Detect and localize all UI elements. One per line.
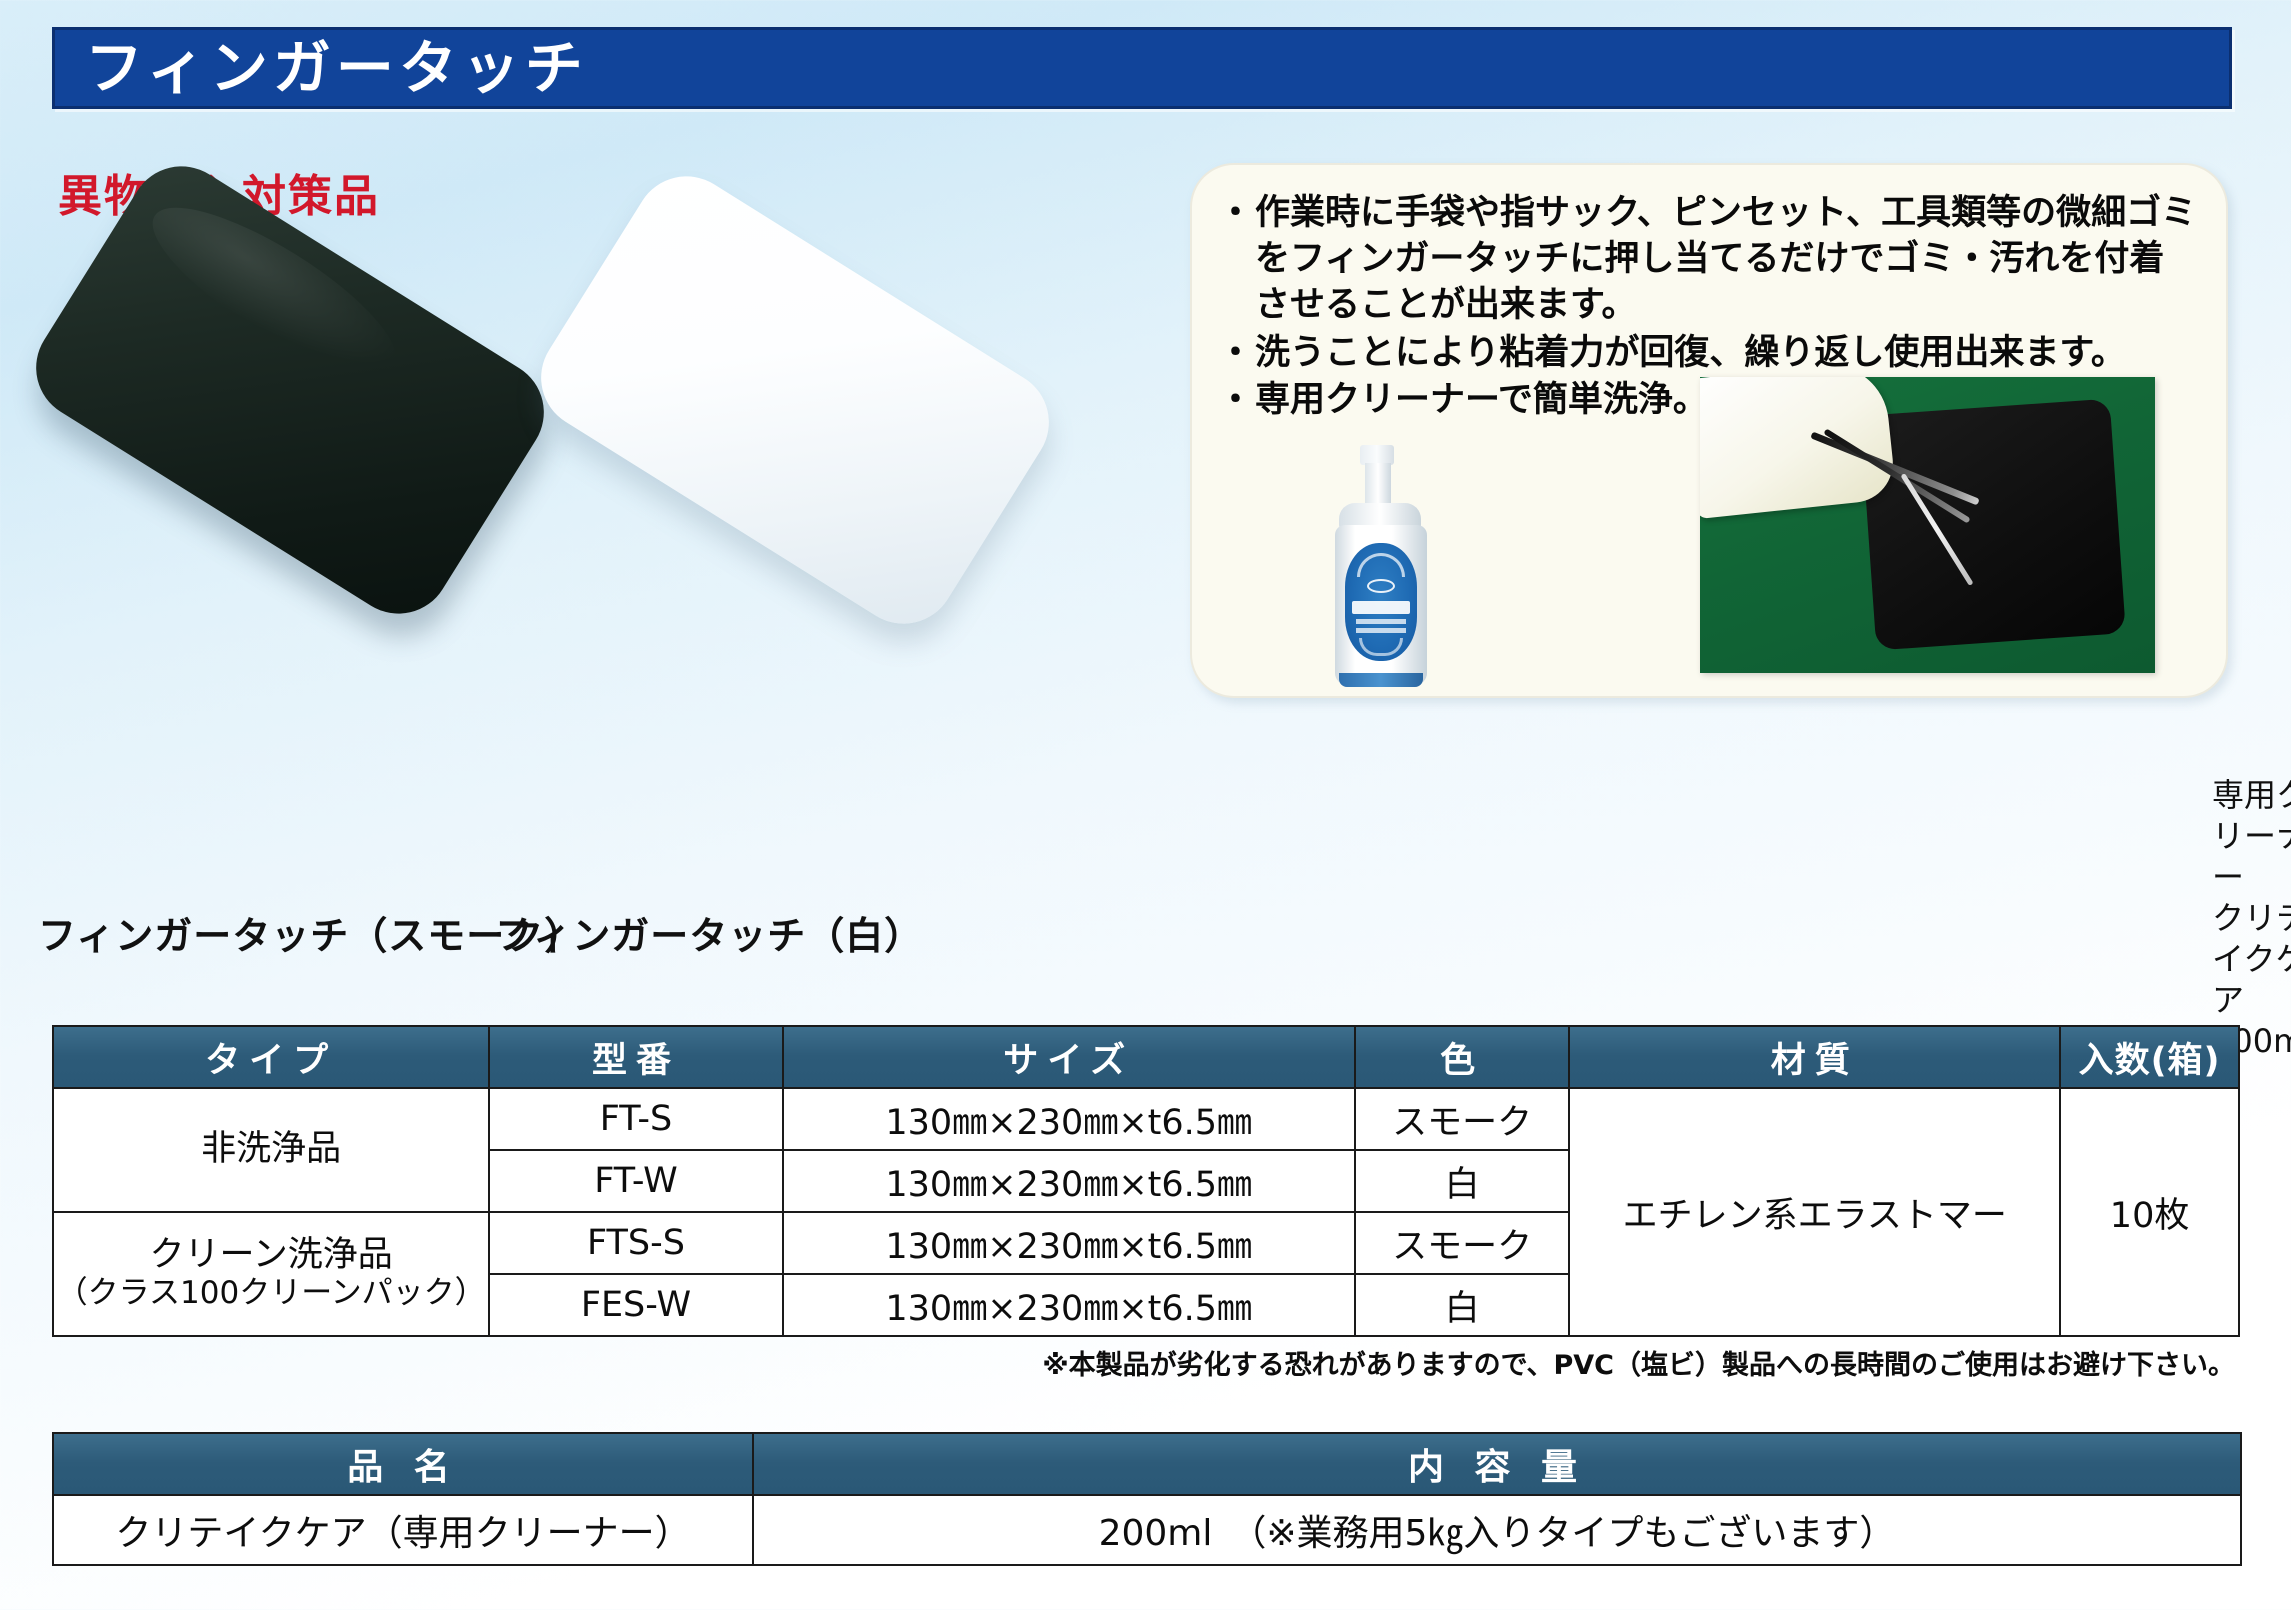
bottle-body bbox=[1335, 525, 1427, 685]
column-header-quantity: 入数(箱) bbox=[2060, 1026, 2239, 1088]
table-header-row: 品 名 内 容 量 bbox=[53, 1433, 2241, 1495]
label-logo-icon bbox=[1367, 579, 1395, 593]
bottle-base-band bbox=[1339, 673, 1423, 687]
cell-color: 白 bbox=[1355, 1274, 1570, 1336]
cleaner-bottle-caption: 専用クリーナー クリテイクケア 200ml bbox=[2212, 775, 2291, 1062]
bottle-neck bbox=[1365, 463, 1391, 507]
feature-bullet-text: 洗うことにより粘着力が回復、繰り返し使用出来ます。 bbox=[1255, 331, 2198, 377]
column-header-product-name: 品 名 bbox=[53, 1433, 753, 1495]
cell-size: 130㎜×230㎜×t6.5㎜ bbox=[783, 1212, 1355, 1274]
cell-type-clean-washed: クリーン洗浄品 （クラス100クリーンパック） bbox=[53, 1212, 489, 1336]
table-row: 非洗浄品 FT-S 130㎜×230㎜×t6.5㎜ スモーク エチレン系エラスト… bbox=[53, 1088, 2239, 1150]
demo-finger-touch-pad bbox=[1860, 399, 2126, 651]
specification-table: タイプ 型番 サイズ 色 材質 入数(箱) 非洗浄品 FT-S 130㎜×230… bbox=[52, 1025, 2240, 1384]
cell-size: 130㎜×230㎜×t6.5㎜ bbox=[783, 1088, 1355, 1150]
bottle-label bbox=[1345, 543, 1417, 661]
cell-quantity: 10枚 bbox=[2060, 1088, 2239, 1336]
column-header-type: タイプ bbox=[53, 1026, 489, 1088]
finger-touch-smoke-pad-image bbox=[17, 147, 564, 634]
column-header-material: 材質 bbox=[1569, 1026, 2060, 1088]
bullet-marker-icon: ・ bbox=[1218, 331, 1255, 377]
column-header-volume: 内 容 量 bbox=[753, 1433, 2241, 1495]
pvc-warning-note: ※本製品が劣化する恐れがありますので、PVC（塩ビ）製品への長時間のご使用はお避… bbox=[53, 1336, 2239, 1384]
cell-color: スモーク bbox=[1355, 1212, 1570, 1274]
table-header-row: タイプ 型番 サイズ 色 材質 入数(箱) bbox=[53, 1026, 2239, 1088]
cell-size: 130㎜×230㎜×t6.5㎜ bbox=[783, 1274, 1355, 1336]
cell-color: スモーク bbox=[1355, 1088, 1570, 1150]
label-swirl-top-icon bbox=[1357, 553, 1405, 577]
cell-cleaner-volume: 200ml （※業務用5㎏入りタイプもございます） bbox=[753, 1495, 2241, 1565]
cell-model: FTS-S bbox=[489, 1212, 782, 1274]
cell-size: 130㎜×230㎜×t6.5㎜ bbox=[783, 1150, 1355, 1212]
product-photo-area: フィンガータッチ（スモーク） フィンガータッチ（白） bbox=[0, 215, 1180, 915]
usage-demo-photo bbox=[1700, 377, 2155, 673]
table-note-row: ※本製品が劣化する恐れがありますので、PVC（塩ビ）製品への長時間のご使用はお避… bbox=[53, 1336, 2239, 1384]
finger-touch-white-pad-image bbox=[522, 157, 1069, 644]
column-header-size: サイズ bbox=[783, 1026, 1355, 1088]
cell-color: 白 bbox=[1355, 1150, 1570, 1212]
feature-description-box: ・ 作業時に手袋や指サック、ピンセット、工具類等の微細ゴミをフィンガータッチに押… bbox=[1190, 163, 2228, 698]
label-subtext-line-1 bbox=[1356, 619, 1406, 624]
label-swirl-bottom-icon bbox=[1359, 638, 1403, 656]
label-subtext-line-2 bbox=[1356, 628, 1406, 633]
bullet-marker-icon: ・ bbox=[1218, 191, 1255, 329]
table-row: クリテイクケア（専用クリーナー） 200ml （※業務用5㎏入りタイプもございま… bbox=[53, 1495, 2241, 1565]
cleaner-bottle-image bbox=[1297, 445, 1477, 695]
cell-model: FES-W bbox=[489, 1274, 782, 1336]
feature-bullet-text: 作業時に手袋や指サック、ピンセット、工具類等の微細ゴミをフィンガータッチに押し当… bbox=[1255, 191, 2198, 329]
label-product-name-band bbox=[1352, 601, 1410, 614]
cell-type-non-cleaned: 非洗浄品 bbox=[53, 1088, 489, 1212]
cell-material: エチレン系エラストマー bbox=[1569, 1088, 2060, 1336]
bullet-marker-icon: ・ bbox=[1218, 378, 1255, 424]
white-pad-caption: フィンガータッチ（白） bbox=[495, 905, 923, 960]
demo-gloved-hand bbox=[1700, 377, 1897, 519]
cell-type-main: クリーン洗浄品 bbox=[150, 1235, 393, 1275]
page-title-banner: フィンガータッチ bbox=[52, 27, 2232, 109]
cell-cleaner-name: クリテイクケア（専用クリーナー） bbox=[53, 1495, 753, 1565]
list-item: ・ 洗うことにより粘着力が回復、繰り返し使用出来ます。 bbox=[1218, 331, 2198, 377]
list-item: ・ 作業時に手袋や指サック、ピンセット、工具類等の微細ゴミをフィンガータッチに押… bbox=[1218, 191, 2198, 329]
cell-model: FT-W bbox=[489, 1150, 782, 1212]
column-header-model: 型番 bbox=[489, 1026, 782, 1088]
page-title: フィンガータッチ bbox=[55, 39, 588, 97]
column-header-color: 色 bbox=[1355, 1026, 1570, 1088]
cleaner-product-table: 品 名 内 容 量 クリテイクケア（専用クリーナー） 200ml （※業務用5㎏… bbox=[52, 1432, 2242, 1566]
cell-type-sub: （クラス100クリーンパック） bbox=[56, 1276, 486, 1311]
bottle-nozzle bbox=[1360, 445, 1394, 465]
cell-model: FT-S bbox=[489, 1088, 782, 1150]
